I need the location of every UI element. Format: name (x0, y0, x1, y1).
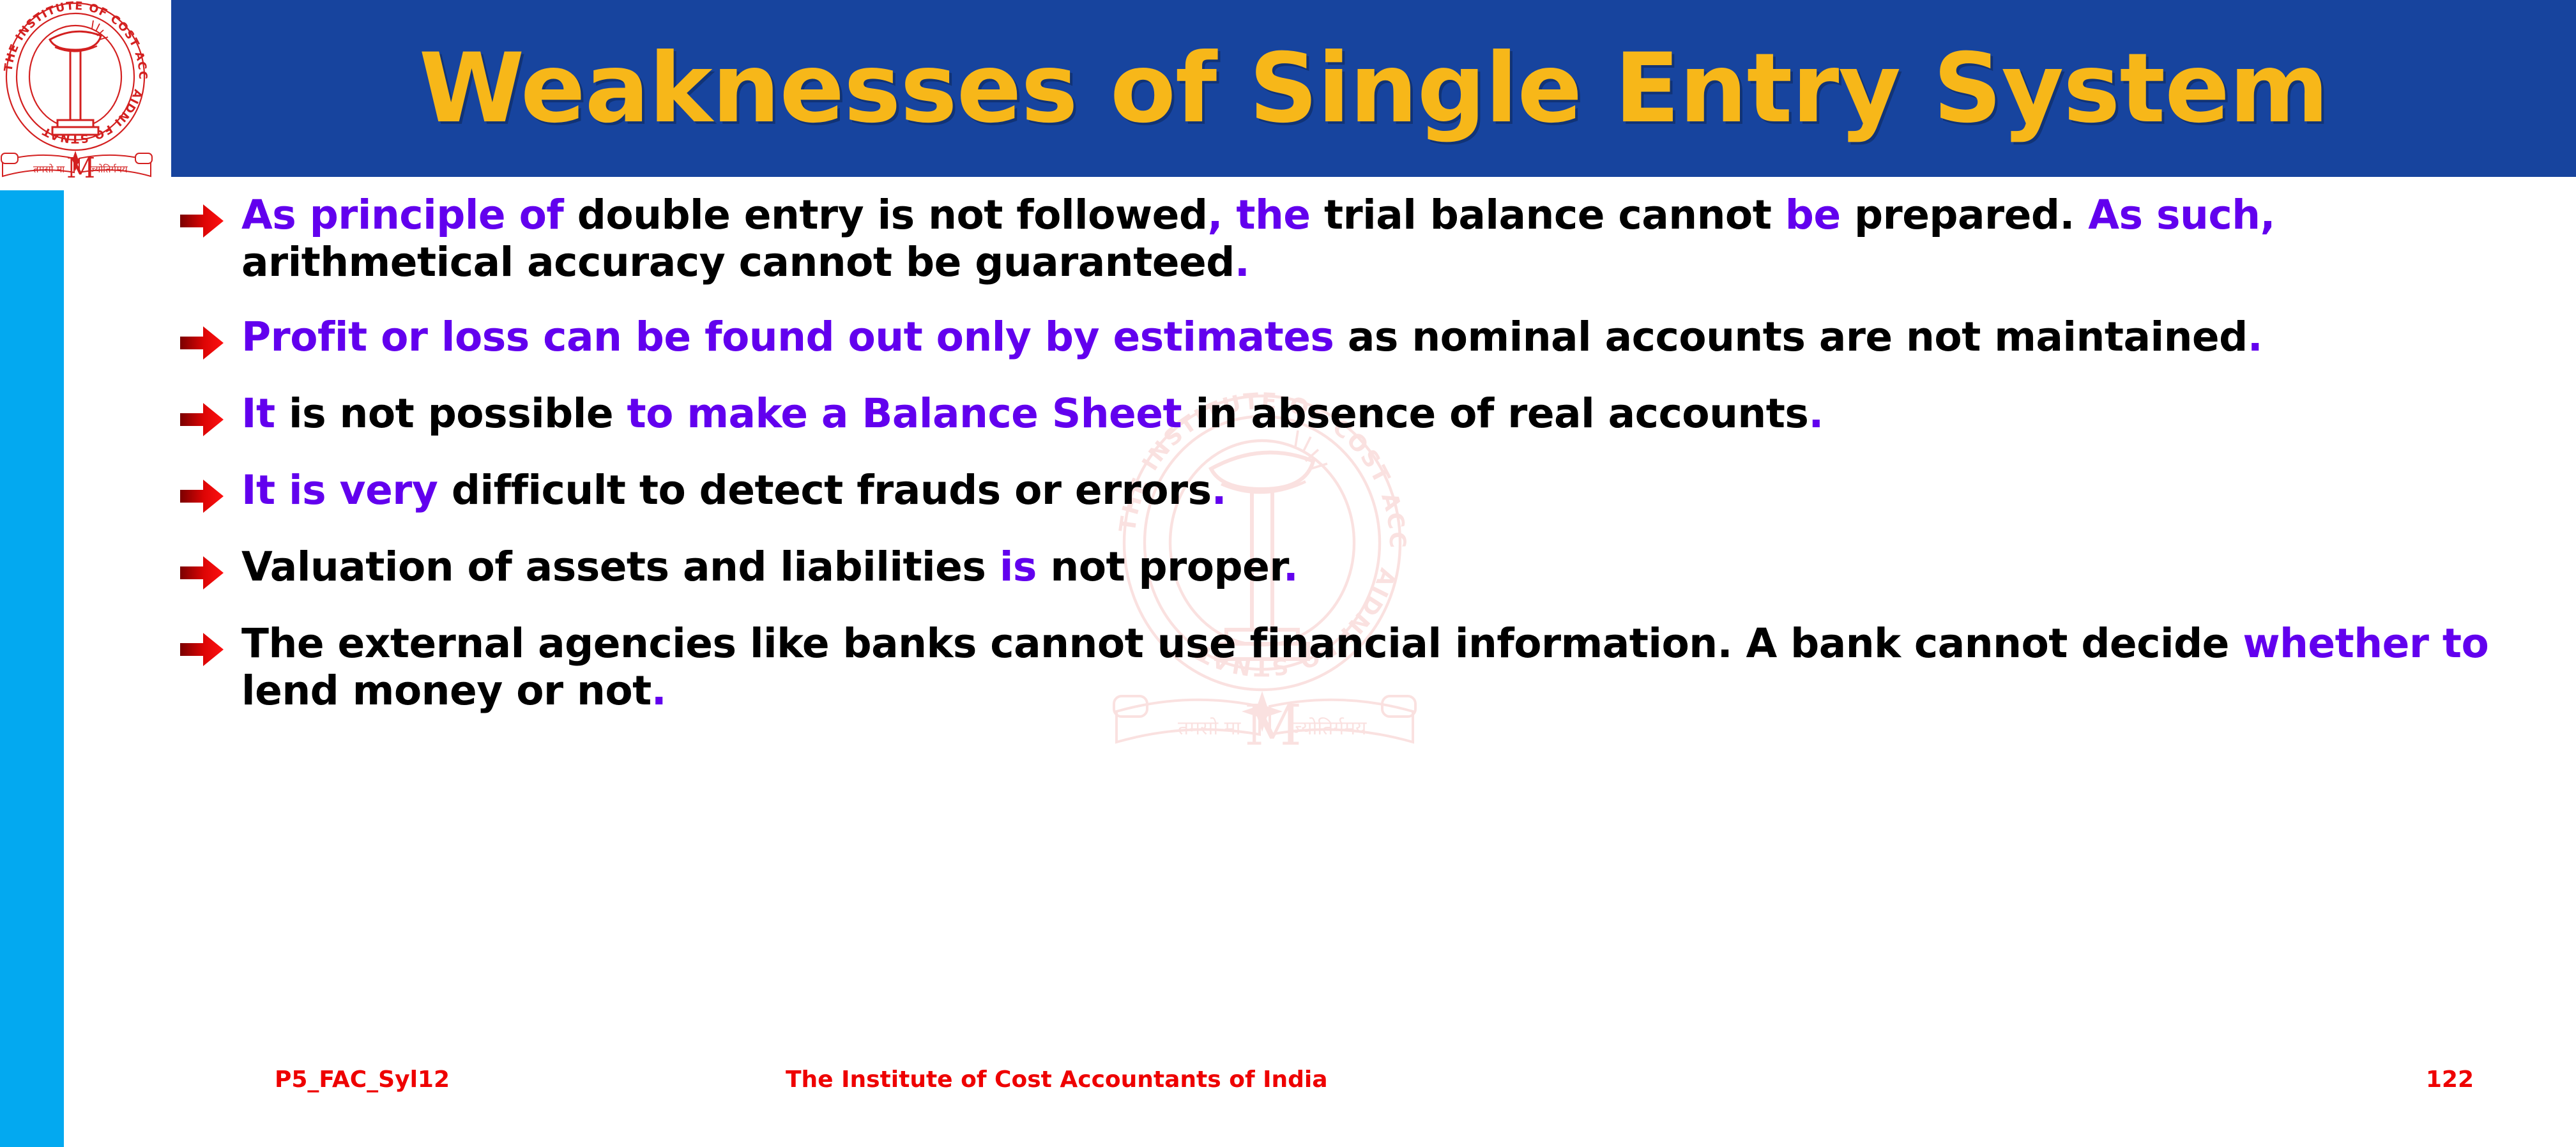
bullet-text-run: . (1283, 543, 1298, 590)
bullet-text-run: , the (1207, 192, 1324, 238)
monogram-letter: M (66, 152, 95, 185)
bullet-item: Profit or loss can be found out only by … (179, 314, 2536, 363)
bullet-text-run: in absence of real accounts (1196, 390, 1809, 437)
icai-logo: THE INSTITUTE OF COST ACCOUN AIDNI FO ST… (0, 0, 160, 185)
bullet-text-run: not proper (1050, 543, 1283, 590)
bullet-text-run: . (1212, 467, 1226, 513)
bullet-text: As principle of double entry is not foll… (241, 192, 2536, 287)
bullet-item: It is very difficult to detect frauds or… (179, 467, 2536, 517)
bullet-text-run: whether to (2243, 620, 2488, 667)
bullet-text-run: The external agencies like banks cannot … (241, 620, 2243, 667)
red-arrow-icon (179, 476, 225, 517)
slide-title-bar: Weaknesses of Single Entry System (171, 0, 2576, 177)
red-arrow-icon (179, 399, 225, 440)
bullet-item: The external agencies like banks cannot … (179, 620, 2536, 715)
bullet-item: Valuation of assets and liabilities is n… (179, 543, 2536, 593)
bullet-item: As principle of double entry is not foll… (179, 192, 2536, 287)
bullet-text-run: to make a Balance Sheet (627, 390, 1196, 437)
bullet-text-run: As principle of (241, 192, 577, 238)
footer-institute-name: The Institute of Cost Accountants of Ind… (786, 1067, 1328, 1093)
bullet-item: It is not possible to make a Balance She… (179, 390, 2536, 440)
bullet-text-run: be (1785, 192, 1854, 238)
footer-page-number: 122 (2426, 1067, 2474, 1093)
page-title: Weaknesses of Single Entry System (419, 41, 2328, 137)
red-arrow-icon (179, 323, 225, 363)
red-arrow-icon (179, 201, 225, 241)
bullet-list: As principle of double entry is not foll… (179, 192, 2536, 741)
red-arrow-icon (179, 629, 225, 670)
bullet-text: Valuation of assets and liabilities is n… (241, 543, 2536, 591)
bullet-text-run: double entry is not followed (577, 192, 1208, 238)
bullet-text-run: It (241, 390, 289, 437)
bullet-text-run: lend money or not (241, 667, 652, 714)
bullet-text: It is not possible to make a Balance She… (241, 390, 2536, 437)
bullet-text: It is very difficult to detect frauds or… (241, 467, 2536, 514)
svg-text:AIDNI FO STNAT: AIDNI FO STNAT (40, 87, 144, 145)
bullet-text-run: arithmetical accuracy cannot be guarante… (241, 239, 1235, 285)
slide-footer: P5_FAC_Syl12 The Institute of Cost Accou… (0, 1067, 2576, 1111)
bullet-text-run: . (1235, 239, 1249, 285)
bullet-text-run: Profit or loss can be found out only by … (241, 314, 1348, 360)
red-arrow-icon (179, 552, 225, 593)
footer-subject-code: P5_FAC_Syl12 (275, 1067, 450, 1093)
bullet-text-run: as nominal accounts are not maintained (1348, 314, 2248, 360)
bullet-text: Profit or loss can be found out only by … (241, 314, 2536, 361)
bullet-text-run: difficult to detect frauds or errors (452, 467, 1212, 513)
bullet-text-run: It is very (241, 467, 452, 513)
left-accent-strip (0, 190, 64, 1147)
bullet-text-run: . (652, 667, 666, 714)
bullet-text-run: . (2248, 314, 2262, 360)
bullet-text-run: prepared. (1854, 192, 2088, 238)
ribbon-left-text: तमसो मा (33, 163, 65, 175)
bullet-text-run: trial balance cannot (1324, 192, 1785, 238)
bullet-text-run: is not possible (289, 390, 627, 437)
bullet-text-run: Valuation of assets and liabilities (241, 543, 1000, 590)
bullet-text: The external agencies like banks cannot … (241, 620, 2536, 715)
bullet-text-run: As such, (2088, 192, 2275, 238)
bullet-text-run: . (1808, 390, 1823, 437)
bullet-text-run: is (1000, 543, 1051, 590)
